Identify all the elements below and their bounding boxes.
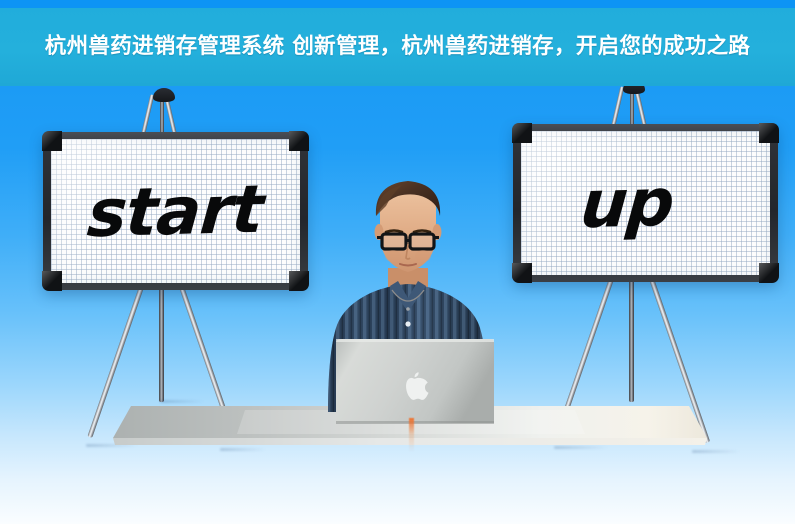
board-corner-bottom-right [759,263,779,283]
header-banner: 杭州兽药进销存管理系统 创新管理，杭州兽药进销存，开启您的成功之路 [0,8,795,86]
easel-cap-icon [153,88,175,102]
necklace-pendant [406,307,410,311]
board-corner-top-right [759,123,779,143]
board-corner-bottom-left [512,263,532,283]
whiteboard-right[interactable]: up [513,124,778,282]
board-corner-top-left [512,123,532,143]
whiteboard-left-surface: start [51,139,300,283]
whiteboard-left-text: start [85,170,266,252]
board-corner-top-left [42,131,62,151]
whiteboard-right-text: up [578,163,677,242]
easel-left: start [20,88,310,448]
shirt-button [405,321,410,326]
top-accent-strip [0,0,795,8]
page-title: 杭州兽药进销存管理系统 创新管理，杭州兽药进销存，开启您的成功之路 [31,33,764,61]
board-corner-bottom-left [42,271,62,291]
easel-right: up [490,80,780,440]
page-root: start up [0,0,795,524]
easel-leg-center [629,276,634,402]
whiteboard-right-surface: up [521,131,770,275]
easel-leg-center [159,284,164,402]
laptop[interactable] [330,337,500,433]
person-eyebrow-right [414,231,430,233]
board-corner-top-right [289,131,309,151]
accent-glow [409,418,414,452]
person-eyebrow-left [386,231,402,233]
board-corner-bottom-right [289,271,309,291]
whiteboard-left[interactable]: start [43,132,308,290]
